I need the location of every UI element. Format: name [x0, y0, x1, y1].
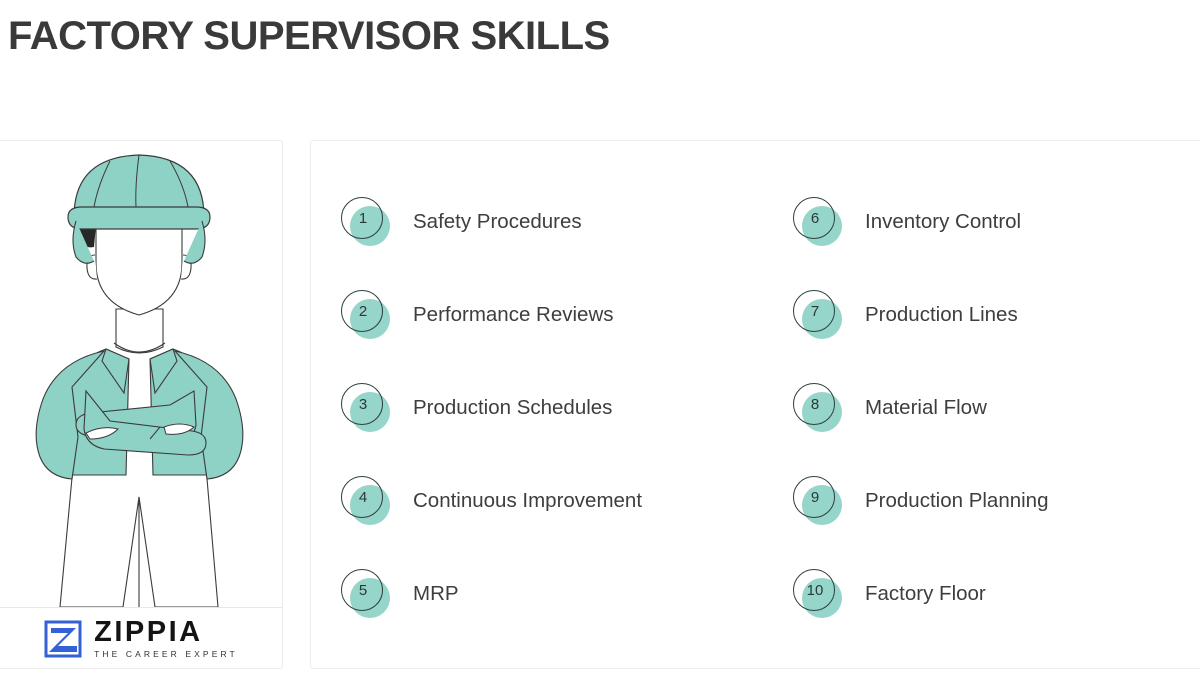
- skill-number-badge: 6: [793, 197, 843, 247]
- skill-number-badge: 7: [793, 290, 843, 340]
- skill-label: Factory Floor: [865, 582, 986, 606]
- skill-label: Production Lines: [865, 303, 1018, 327]
- skill-number: 6: [811, 211, 819, 226]
- skill-item: 4Continuous Improvement: [311, 454, 763, 547]
- skill-label: Material Flow: [865, 396, 987, 420]
- skill-number-badge: 10: [793, 569, 843, 619]
- skill-number-badge: 8: [793, 383, 843, 433]
- skill-number: 2: [359, 304, 367, 319]
- zippia-tagline: THE CAREER EXPERT: [94, 650, 238, 659]
- badge-ring: 3: [341, 383, 383, 425]
- badge-ring: 1: [341, 197, 383, 239]
- skill-label: Inventory Control: [865, 210, 1021, 234]
- skill-number: 4: [359, 490, 367, 505]
- skills-grid: 1Safety Procedures6Inventory Control2Per…: [311, 141, 1200, 670]
- skill-number-badge: 5: [341, 569, 391, 619]
- skill-label: MRP: [413, 582, 459, 606]
- skill-number-badge: 1: [341, 197, 391, 247]
- badge-ring: 8: [793, 383, 835, 425]
- badge-ring: 9: [793, 476, 835, 518]
- badge-ring: 5: [341, 569, 383, 611]
- badge-ring: 6: [793, 197, 835, 239]
- badge-ring: 2: [341, 290, 383, 332]
- skill-number-badge: 3: [341, 383, 391, 433]
- skill-label: Performance Reviews: [413, 303, 614, 327]
- skill-number-badge: 2: [341, 290, 391, 340]
- skill-label: Production Schedules: [413, 396, 612, 420]
- skill-label: Production Planning: [865, 489, 1049, 513]
- skill-item: 10Factory Floor: [763, 547, 1200, 640]
- skill-item: 6Inventory Control: [763, 175, 1200, 268]
- zippia-z-mark-icon: [43, 619, 83, 659]
- skill-label: Continuous Improvement: [413, 489, 642, 513]
- skills-panel: 1Safety Procedures6Inventory Control2Per…: [310, 140, 1200, 669]
- skill-item: 7Production Lines: [763, 268, 1200, 361]
- badge-ring: 7: [793, 290, 835, 332]
- skill-number: 3: [359, 397, 367, 412]
- skill-label: Safety Procedures: [413, 210, 582, 234]
- skill-item: 1Safety Procedures: [311, 175, 763, 268]
- skill-item: 8Material Flow: [763, 361, 1200, 454]
- skill-item: 2Performance Reviews: [311, 268, 763, 361]
- illustration-container: [0, 141, 283, 607]
- page-title: FACTORY SUPERVISOR SKILLS: [8, 14, 610, 59]
- factory-supervisor-illustration: [0, 141, 283, 607]
- badge-ring: 4: [341, 476, 383, 518]
- skill-number: 1: [359, 211, 367, 226]
- skill-item: 3Production Schedules: [311, 361, 763, 454]
- skill-number: 7: [811, 304, 819, 319]
- skill-number: 8: [811, 397, 819, 412]
- skill-number: 10: [807, 583, 824, 598]
- zippia-wordmark: ZIPPIA: [94, 618, 238, 647]
- zippia-wordmark-group: ZIPPIA THE CAREER EXPERT: [94, 618, 238, 659]
- infographic-page: FACTORY SUPERVISOR SKILLS: [0, 0, 1200, 675]
- skill-number-badge: 9: [793, 476, 843, 526]
- skill-number-badge: 4: [341, 476, 391, 526]
- skill-number: 9: [811, 490, 819, 505]
- zippia-logo[interactable]: ZIPPIA THE CAREER EXPERT: [0, 608, 283, 669]
- illustration-panel: ZIPPIA THE CAREER EXPERT: [0, 140, 283, 669]
- badge-ring: 10: [793, 569, 835, 611]
- skill-item: 5MRP: [311, 547, 763, 640]
- skill-item: 9Production Planning: [763, 454, 1200, 547]
- skill-number: 5: [359, 583, 367, 598]
